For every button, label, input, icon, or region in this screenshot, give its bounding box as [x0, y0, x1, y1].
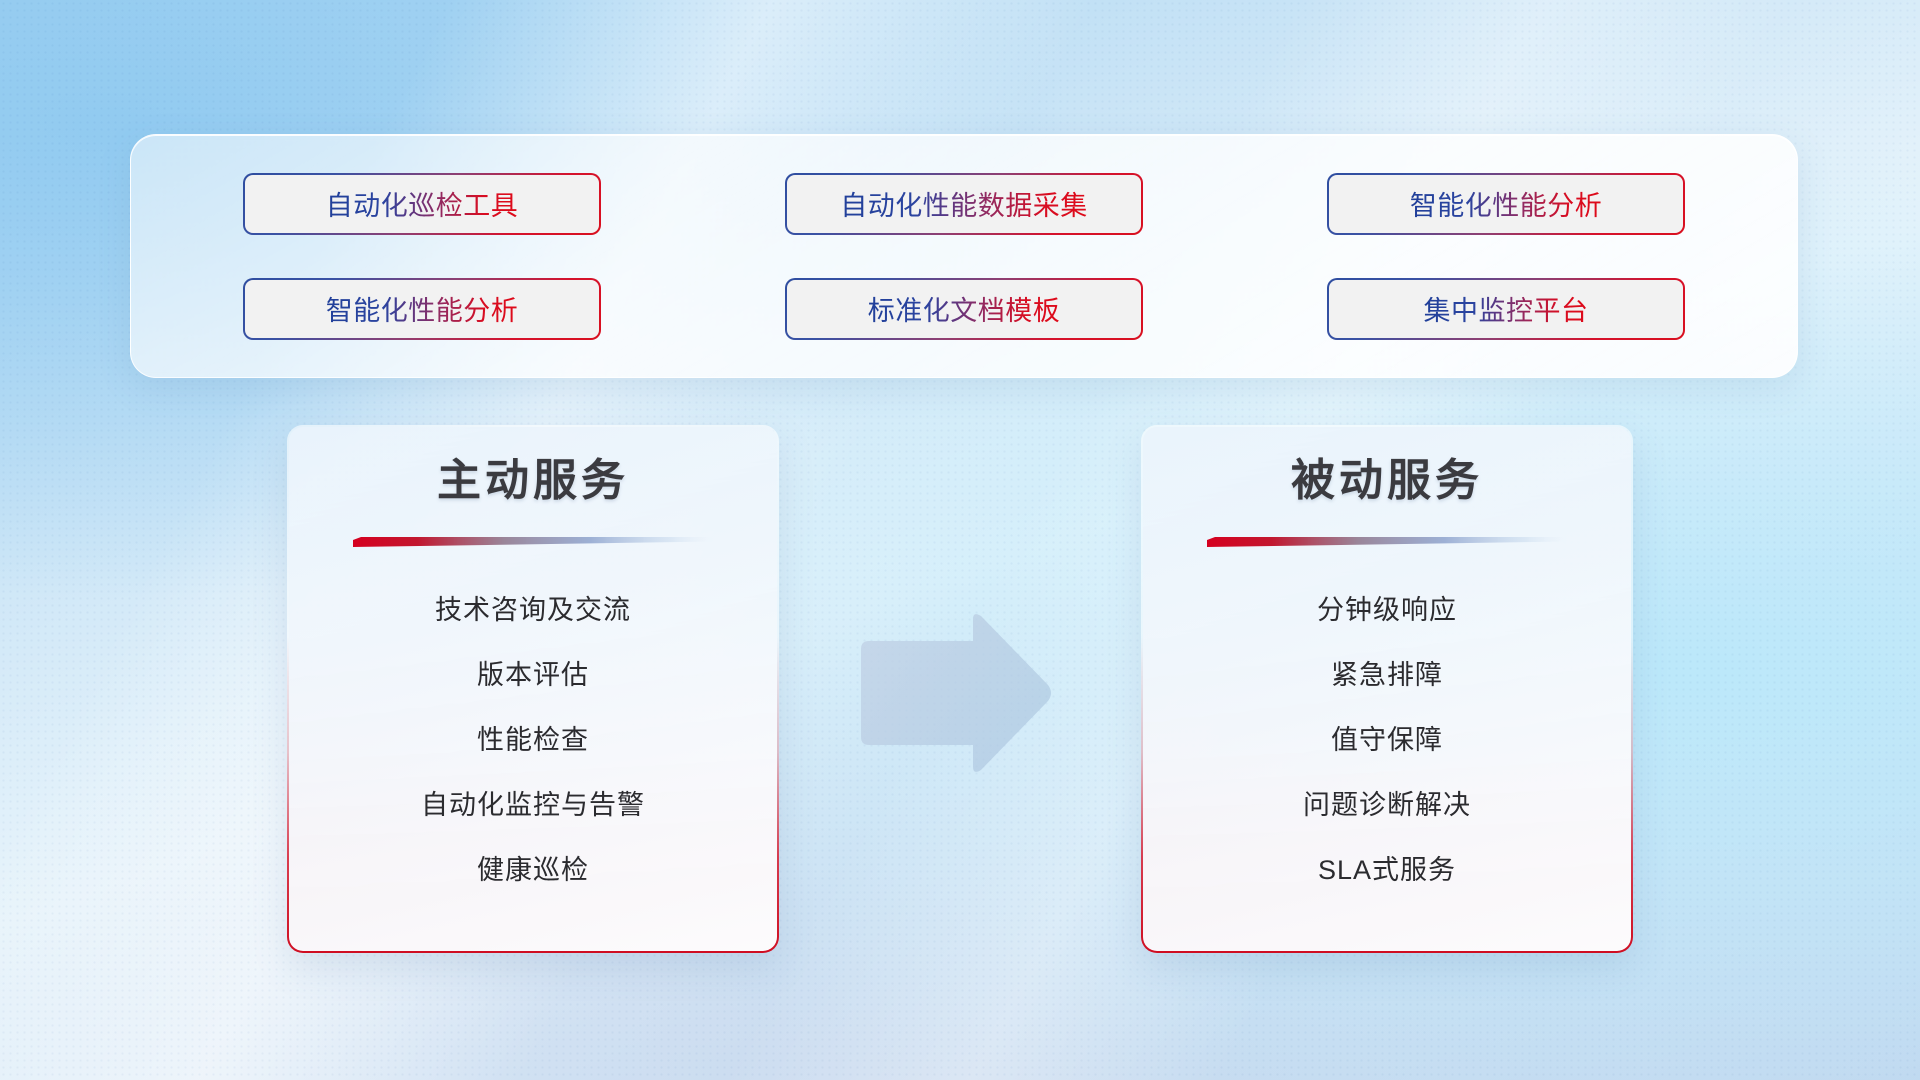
service-item: 技术咨询及交流 [435, 578, 631, 643]
capability-tag-label: 标准化文档模板 [868, 289, 1061, 328]
capability-tag-surface: 自动化巡检工具 [245, 175, 599, 233]
slide-canvas: 自动化巡检工具 自动化性能数据采集 智能化性能分析 智能化性能分析 标准化文档模… [0, 0, 1920, 1080]
service-item: 性能检查 [477, 708, 589, 773]
capability-tag-label: 智能化性能分析 [1410, 184, 1603, 223]
capability-tag[interactable]: 智能化性能分析 [1327, 173, 1685, 235]
service-item-list: 技术咨询及交流 版本评估 性能检查 自动化监控与告警 健康巡检 [289, 578, 777, 903]
service-item: 自动化监控与告警 [421, 773, 645, 838]
arrow-right-icon [855, 613, 1055, 773]
capability-tag-label: 集中监控平台 [1424, 289, 1589, 328]
service-card-reactive[interactable]: 被动服务 [1141, 425, 1633, 953]
capability-tag-label: 自动化巡检工具 [326, 184, 519, 223]
service-card-proactive[interactable]: 主动服务 [287, 425, 779, 953]
service-item-list: 分钟级响应 紧急排障 值守保障 问题诊断解决 SLA式服务 [1143, 578, 1631, 903]
service-item: 版本评估 [477, 643, 589, 708]
service-item: 健康巡检 [477, 838, 589, 903]
capability-tag-surface: 智能化性能分析 [1329, 175, 1683, 233]
capability-tag-surface: 标准化文档模板 [787, 280, 1141, 338]
service-card-surface: 主动服务 [289, 427, 777, 951]
service-card-title: 被动服务 [1291, 459, 1483, 507]
service-item: 分钟级响应 [1317, 578, 1457, 643]
capability-tag-surface: 智能化性能分析 [245, 280, 599, 338]
card-title-divider [353, 537, 713, 548]
service-card-title: 主动服务 [437, 459, 629, 507]
service-item: 紧急排障 [1331, 643, 1443, 708]
capability-tag-surface: 集中监控平台 [1329, 280, 1683, 338]
capability-tag-label: 智能化性能分析 [326, 289, 519, 328]
capability-tag[interactable]: 自动化巡检工具 [243, 173, 601, 235]
capability-tag-panel: 自动化巡检工具 自动化性能数据采集 智能化性能分析 智能化性能分析 标准化文档模… [130, 134, 1798, 378]
service-card-surface: 被动服务 [1143, 427, 1631, 951]
service-item: 值守保障 [1331, 708, 1443, 773]
capability-tag[interactable]: 智能化性能分析 [243, 278, 601, 340]
service-item: SLA式服务 [1318, 838, 1456, 903]
capability-tag[interactable]: 集中监控平台 [1327, 278, 1685, 340]
service-item: 问题诊断解决 [1303, 773, 1471, 838]
card-title-divider [1207, 537, 1567, 548]
capability-tag-label: 自动化性能数据采集 [840, 184, 1088, 223]
capability-tag-surface: 自动化性能数据采集 [787, 175, 1141, 233]
capability-tag[interactable]: 自动化性能数据采集 [785, 173, 1143, 235]
capability-tag[interactable]: 标准化文档模板 [785, 278, 1143, 340]
